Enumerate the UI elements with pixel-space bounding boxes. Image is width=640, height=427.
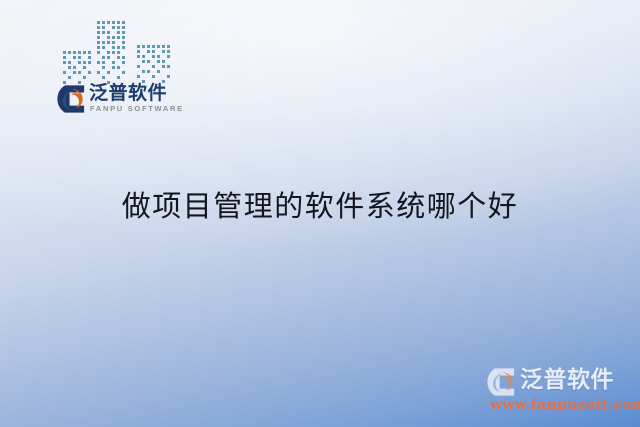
watermark-name-cn: 泛普软件: [520, 366, 614, 394]
brand-logo: 泛普软件 FANPU SOFTWARE: [56, 14, 186, 118]
watermark: 泛普软件 www.fanpusoft.com: [484, 365, 632, 421]
fanpu-logo-icon: [486, 367, 516, 397]
brand-lockup: 泛普软件 FANPU SOFTWARE: [56, 84, 186, 118]
brand-name-en: FANPU SOFTWARE: [90, 104, 184, 113]
brand-name-cn: 泛普软件: [89, 82, 167, 104]
watermark-lockup: 泛普软件: [484, 365, 632, 399]
page-canvas: 泛普软件 FANPU SOFTWARE 做项目管理的软件系统哪个好 泛普软件 w…: [0, 0, 640, 427]
watermark-url: www.fanpusoft.com: [490, 397, 640, 413]
dot-matrix-skyline-icon: [56, 14, 186, 86]
page-title: 做项目管理的软件系统哪个好: [0, 188, 640, 224]
fanpu-logo-icon: [56, 84, 86, 114]
